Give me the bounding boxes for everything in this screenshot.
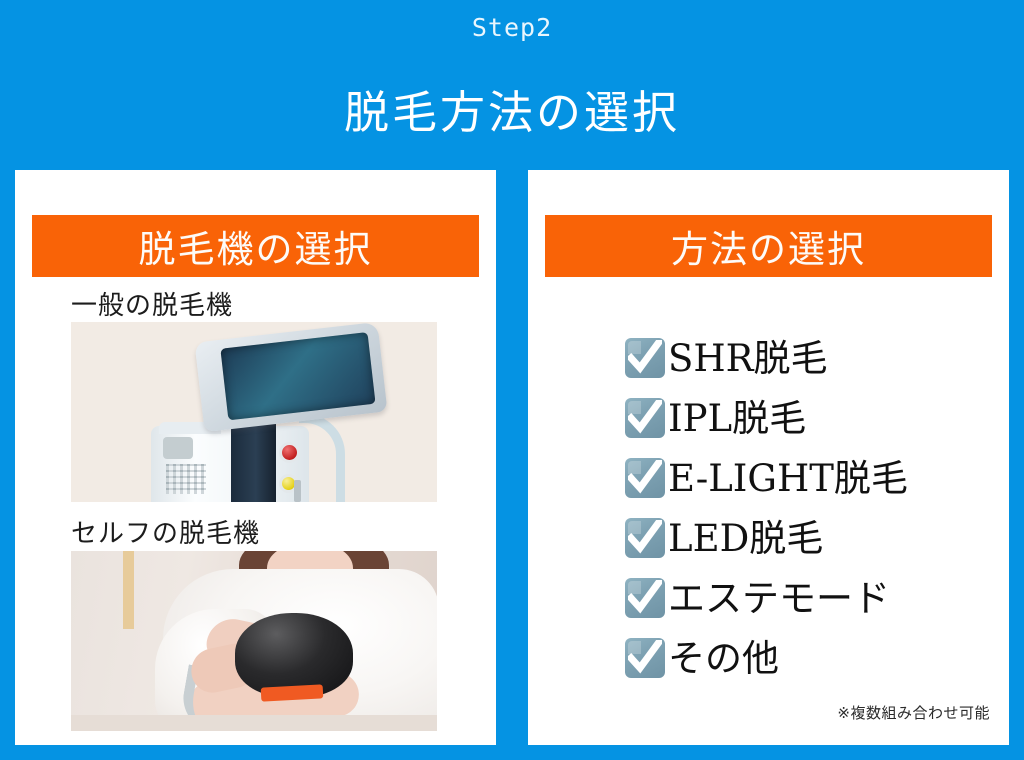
list-item-label: エステモード [668,580,890,617]
method-list: SHR脱毛 IPL脱毛 E-LIGHT脱毛 [625,328,995,688]
list-item-label: その他 [668,640,779,677]
handheld-hair-removal-device [235,613,353,697]
list-item-label: SHR脱毛 [668,340,827,377]
machine-side-pad [163,437,193,459]
machine-vents [166,464,206,494]
list-item[interactable]: SHR脱毛 [625,328,995,388]
checkbox-checked-icon[interactable] [625,578,665,618]
list-item[interactable]: LED脱毛 [625,508,995,568]
list-item[interactable]: IPL脱毛 [625,388,995,448]
machine-touchscreen [220,332,375,420]
photo-self-treatment [71,551,437,731]
list-item-label: IPL脱毛 [668,400,806,437]
method-selection-card: 方法の選択 SHR脱毛 IPL脱毛 E-L [528,170,1009,745]
footnote-multiple-combination: ※複数組み合わせ可能 [837,702,990,723]
checkbox-checked-icon[interactable] [625,638,665,678]
page-title: 脱毛方法の選択 [0,76,1024,141]
checkbox-checked-icon[interactable] [625,338,665,378]
emergency-stop-button-icon [279,442,300,463]
machine-key [294,480,301,502]
checkbox-checked-icon[interactable] [625,518,665,558]
caption-self-machine: セルフの脱毛機 [71,513,260,550]
checkbox-checked-icon[interactable] [625,398,665,438]
list-item[interactable]: エステモード [625,568,995,628]
list-item-label: E-LIGHT脱毛 [668,460,908,497]
machine-selection-card: 脱毛機の選択 一般の脱毛機 セルフの脱毛機 [15,170,496,745]
step-label: Step2 [0,13,1024,42]
photo-wood-frame [123,551,134,629]
photo-professional-machine [71,322,437,502]
machine-dark-column [231,422,276,502]
caption-general-machine: 一般の脱毛機 [71,285,233,322]
checkbox-checked-icon[interactable] [625,458,665,498]
list-item[interactable]: E-LIGHT脱毛 [625,448,995,508]
method-selection-banner: 方法の選択 [545,215,992,277]
photo-counter-surface [71,715,437,731]
list-item-label: LED脱毛 [668,520,823,557]
machine-screen-frame [194,322,387,432]
list-item[interactable]: その他 [625,628,995,688]
machine-selection-banner: 脱毛機の選択 [32,215,479,277]
slide-header: Step2 脱毛方法の選択 [0,0,1024,168]
